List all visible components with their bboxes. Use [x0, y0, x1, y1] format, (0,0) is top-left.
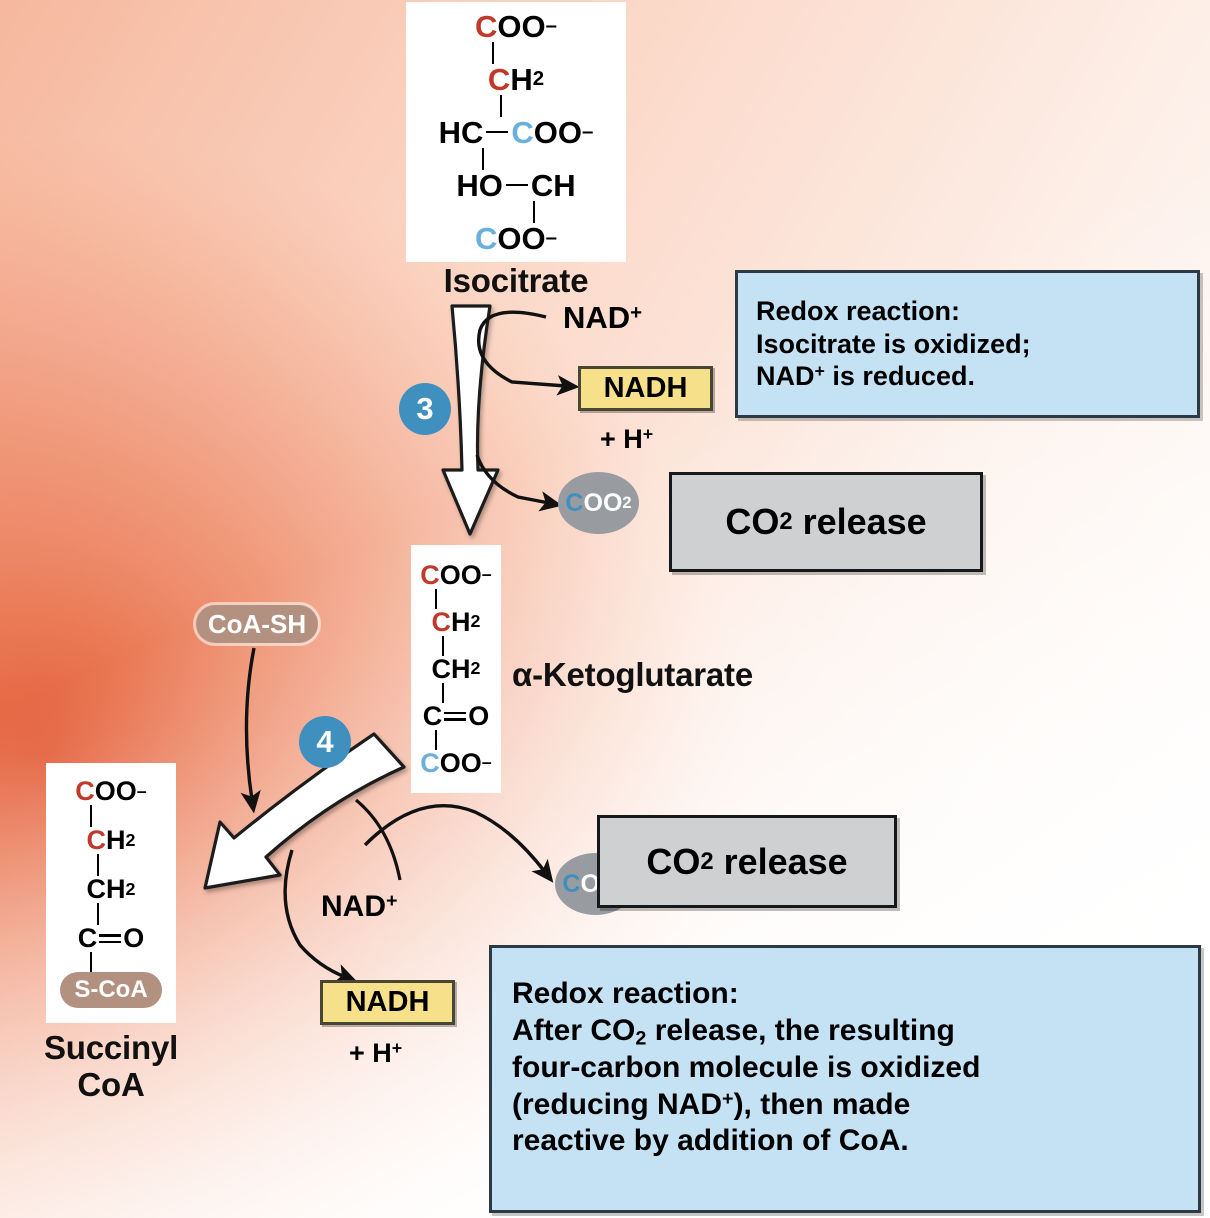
nad-plus-lower-text: NAD: [321, 890, 386, 923]
ketoglutarate-outflow-tail: [356, 800, 400, 880]
kg-bond-4: [435, 730, 438, 750]
nadh-upper-label: NADH: [604, 372, 688, 405]
step-3-number: 3: [416, 391, 433, 427]
redox-bottom-line2a: After CO: [512, 1014, 635, 1047]
isocitrate-bond-1: [492, 42, 495, 64]
redox-top-line3b: is reduced.: [825, 361, 975, 391]
redox-top-line3-charge: +: [815, 361, 825, 381]
isocitrate-bond-3: [482, 148, 485, 170]
kg-row-5-charge: –: [482, 754, 492, 772]
redox-bottom-line3: four-carbon molecule is oxidized: [512, 1051, 980, 1084]
kg-row-2-carbon: C: [432, 609, 452, 636]
isocitrate-row-2-sub: 2: [533, 69, 544, 89]
scoa-row-1-charge: –: [137, 783, 147, 801]
scoa-bond-3: [97, 903, 100, 925]
step-4-circle[interactable]: 4: [299, 716, 351, 768]
redox-bottom-line5: reactive by addition of CoA.: [512, 1124, 909, 1157]
kg-bond-3: [442, 683, 445, 703]
kg-row-1: COO–: [420, 562, 491, 589]
scoa-double-bond: [99, 934, 121, 943]
kg-row-1-carbon: C: [420, 562, 440, 589]
co2-release-top-word: release: [803, 501, 927, 543]
co2-lower-c: C: [562, 870, 580, 899]
isocitrate-bond-h-2: [506, 184, 528, 187]
co2-upper-c: C: [565, 489, 583, 518]
callout-redox-top: Redox reaction: Isocitrate is oxidized; …: [735, 270, 1200, 418]
molecule-card-succinyl-coa: COO– CH2 CH2 CO S-CoA: [46, 763, 176, 1023]
nadh-box-lower: NADH: [320, 980, 455, 1025]
isocitrate-bond-h-1: [486, 131, 508, 134]
scoa-row-2-carbon: C: [87, 827, 107, 854]
isocitrate-row-2-carbon: C: [488, 64, 510, 95]
kg-row-3-carbon: C: [432, 656, 452, 683]
succinyl-coa-label-line2: CoA: [77, 1066, 144, 1103]
scoa-row-1-carbon: C: [75, 778, 95, 805]
kg-row-1-oo: OO: [440, 562, 482, 589]
h-plus-upper-charge: +: [643, 424, 653, 444]
co2-upper-o2: O: [603, 489, 622, 518]
callout-redox-bottom: Redox reaction: After CO2 release, the r…: [489, 945, 1201, 1213]
nadh-box-upper: NADH: [578, 366, 713, 411]
nadh-lower-label: NADH: [346, 986, 430, 1019]
redox-bottom-line4b: ), then made: [734, 1088, 911, 1121]
scoa-row-2-h: H: [106, 827, 126, 854]
kg-row-2-sub: 2: [471, 613, 481, 631]
isocitrate-row-3-hc: HC: [439, 117, 484, 148]
scoa-row-3-carbon: C: [87, 876, 107, 903]
scoa-row-1-oo: OO: [95, 778, 137, 805]
co2-release-bottom-word: release: [724, 841, 848, 883]
scoa-row-3-h: H: [106, 876, 126, 903]
nad-plus-upper-charge: +: [630, 301, 642, 324]
callout-co2-release-top: CO2 release: [669, 472, 983, 572]
kg-double-bond: [444, 712, 466, 721]
isocitrate-row-4-ch: CH: [531, 170, 576, 201]
kg-row-4-o: O: [468, 703, 489, 730]
co2-release-top-c: C: [725, 501, 751, 543]
co2-release-top-sub: 2: [779, 508, 792, 536]
co2-release-bottom-o: O: [672, 841, 700, 883]
redox-bottom-line4a: (reducing NAD: [512, 1088, 722, 1121]
kg-row-5-oo: OO: [440, 750, 482, 777]
nad-plus-lower-charge: +: [386, 890, 398, 912]
nad-plus-to-nadh-arrow-upper: [479, 312, 566, 386]
step-3-main-arrow: [443, 306, 498, 534]
co2-branch-arrow-lower: [365, 806, 545, 872]
co2-upper-o: O: [583, 489, 602, 518]
redox-bottom-line4-charge: +: [722, 1088, 734, 1110]
h-plus-upper-label: + H+: [600, 424, 653, 455]
kg-row-4-carbon: C: [423, 703, 443, 730]
redox-bottom-line2-sub: 2: [635, 1027, 646, 1049]
scoa-row-2: CH2: [87, 827, 136, 854]
co2-release-bottom-c: C: [646, 841, 672, 883]
isocitrate-bond-2: [500, 95, 503, 117]
kg-row-3-h: H: [451, 656, 471, 683]
kg-row-3-sub: 2: [471, 660, 481, 678]
scoa-row-2-sub: 2: [126, 832, 136, 850]
h-plus-lower-sign: +: [349, 1038, 365, 1068]
isocitrate-row-5-charge: –: [546, 228, 557, 248]
isocitrate-row-3-carbon: C: [511, 117, 533, 148]
isocitrate-row-5: COO–: [475, 223, 557, 254]
coash-label: CoA-SH: [208, 609, 306, 640]
kg-bond-2: [442, 636, 445, 656]
h-plus-lower-charge: +: [392, 1038, 402, 1058]
kg-row-2: CH2: [432, 609, 481, 636]
figure-canvas: COO– CH2 HCCOO– HOCH COO– Isocitrate 3 N…: [0, 0, 1210, 1218]
s-coa-badge: S-CoA: [60, 972, 161, 1008]
s-coa-badge-label: S-CoA: [74, 976, 147, 1004]
isocitrate-row-4: HOCH: [456, 170, 575, 201]
succinyl-coa-label-line1: Succinyl: [44, 1029, 178, 1066]
nad-plus-lower-label: NAD+: [321, 890, 398, 924]
coash-badge: CoA-SH: [196, 605, 318, 643]
kg-row-3: CH2: [432, 656, 481, 683]
isocitrate-row-5-oo: OO: [497, 223, 545, 254]
molecule-card-ketoglutarate: COO– CH2 CH2 CO COO–: [411, 545, 501, 793]
scoa-row-4: CO: [78, 925, 145, 952]
co2-release-bottom-sub: 2: [700, 848, 713, 876]
kg-row-2-h: H: [451, 609, 471, 636]
isocitrate-bond-4: [533, 201, 536, 223]
redox-top-line3a: NAD: [756, 361, 815, 391]
kg-bond-1: [435, 589, 438, 609]
isocitrate-label: Isocitrate: [406, 262, 626, 300]
co2-upper-sub: 2: [622, 494, 631, 513]
scoa-row-3: CH2: [87, 876, 136, 903]
co2-branch-arrow-upper: [477, 455, 549, 503]
kg-row-4: CO: [423, 703, 490, 730]
isocitrate-row-3-charge: –: [582, 122, 593, 142]
isocitrate-row-5-carbon: C: [475, 223, 497, 254]
h-plus-lower-text: H: [372, 1038, 392, 1068]
isocitrate-row-2: CH2: [488, 64, 544, 95]
redox-top-line1: Redox reaction:: [756, 296, 960, 326]
co2-release-top-o: O: [751, 501, 779, 543]
co2-bubble-upper: COO2: [558, 472, 639, 534]
isocitrate-row-1-oo: OO: [497, 11, 545, 42]
nad-plus-upper-text: NAD: [563, 300, 630, 335]
h-plus-upper-text: H: [623, 424, 643, 454]
isocitrate-row-3: HCCOO–: [439, 117, 594, 148]
coash-input-arrow: [246, 648, 254, 800]
isocitrate-row-1-charge: –: [546, 16, 557, 36]
callout-co2-release-bottom: CO2 release: [597, 815, 897, 908]
isocitrate-row-1: COO–: [475, 11, 557, 42]
step-4-number: 4: [316, 724, 333, 760]
scoa-bond-1: [90, 805, 93, 827]
kg-row-1-charge: –: [482, 566, 492, 584]
h-plus-upper-sign: +: [600, 424, 616, 454]
scoa-bond-2: [97, 854, 100, 876]
isocitrate-row-3-oo: OO: [534, 117, 582, 148]
scoa-row-1: COO–: [75, 778, 146, 805]
step-3-circle[interactable]: 3: [399, 383, 451, 435]
isocitrate-row-2-h: H: [510, 64, 532, 95]
nad-plus-upper-label: NAD+: [563, 300, 642, 336]
redox-bottom-line2b: release, the resulting: [646, 1014, 954, 1047]
isocitrate-row-4-ho: HO: [456, 170, 503, 201]
kg-row-5-carbon: C: [420, 750, 440, 777]
redox-bottom-line1: Redox reaction:: [512, 977, 739, 1010]
scoa-bond-4: [90, 952, 93, 972]
ketoglutarate-label: α-Ketoglutarate: [512, 656, 753, 694]
h-plus-lower-label: + H+: [349, 1038, 402, 1069]
scoa-row-3-sub: 2: [126, 881, 136, 899]
succinyl-coa-label: Succinyl CoA: [16, 1030, 206, 1104]
scoa-row-4-carbon: C: [78, 925, 98, 952]
molecule-card-isocitrate: COO– CH2 HCCOO– HOCH COO–: [406, 2, 626, 262]
scoa-row-4-o: O: [123, 925, 144, 952]
kg-row-5: COO–: [420, 750, 491, 777]
isocitrate-row-1-carbon: C: [475, 11, 497, 42]
redox-top-line2: Isocitrate is oxidized;: [756, 329, 1031, 359]
